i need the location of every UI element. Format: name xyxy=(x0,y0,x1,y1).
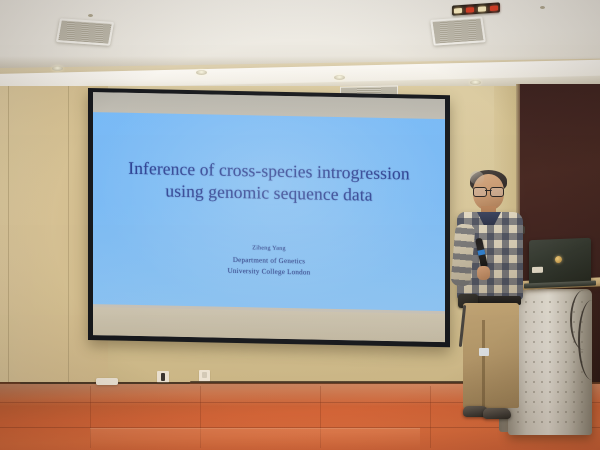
lecture-hall-photo: Inference of cross-species introgression… xyxy=(0,0,600,450)
floor-cable-box xyxy=(96,378,118,385)
screen-surface: Inference of cross-species introgression… xyxy=(93,92,445,342)
recessed-downlight-icon xyxy=(196,70,207,75)
presenter xyxy=(455,170,533,430)
power-cable xyxy=(578,300,600,380)
stage-step xyxy=(90,428,420,450)
ceiling-fitting xyxy=(88,14,93,17)
track-lamp-red xyxy=(466,7,474,13)
floor-seam xyxy=(430,386,431,448)
presenter-trousers xyxy=(463,303,519,408)
presenter-leg-seam xyxy=(482,320,485,408)
microphone-band xyxy=(477,249,485,255)
projection-screen: Inference of cross-species introgression… xyxy=(88,88,450,347)
recessed-downlight-icon xyxy=(470,80,481,85)
air-vent-icon xyxy=(430,16,486,45)
slide-author-block: Ziheng Yang Department of Genetics Unive… xyxy=(93,240,445,282)
track-lamp xyxy=(478,6,486,12)
presenter-hand xyxy=(477,266,490,280)
laptop-logo-icon xyxy=(555,256,562,263)
screen-bottom-band xyxy=(93,307,445,342)
laptop[interactable] xyxy=(529,238,591,286)
air-vent-icon xyxy=(56,18,114,45)
wall-seam xyxy=(8,86,9,386)
track-lamp xyxy=(454,7,462,13)
track-lamp-red xyxy=(490,5,498,11)
pocket-item xyxy=(479,348,489,356)
wall-seam xyxy=(68,86,69,386)
presenter-hair-highlight xyxy=(470,171,484,184)
floor-cable xyxy=(190,381,490,383)
title-slide: Inference of cross-species introgression… xyxy=(93,112,445,311)
eyeglasses-icon xyxy=(473,187,504,195)
presenter-shoe xyxy=(483,408,511,419)
recessed-downlight-icon xyxy=(334,75,345,80)
recessed-downlight-icon xyxy=(52,66,63,71)
ceiling-fitting xyxy=(540,6,545,9)
laptop-label xyxy=(532,267,543,273)
slide-title: Inference of cross-species introgression… xyxy=(93,112,445,207)
